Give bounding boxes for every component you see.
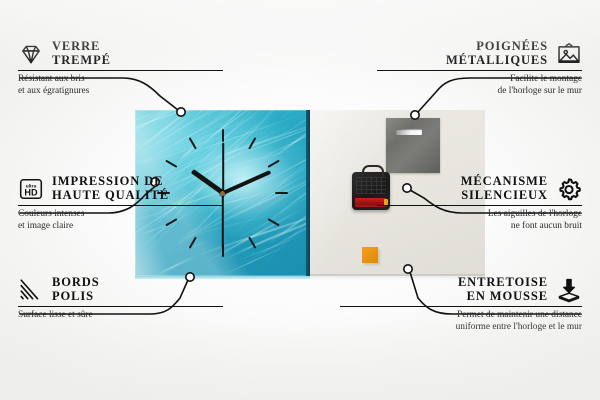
feature-header: MÉCANISME SILENCIEUX bbox=[377, 175, 582, 202]
feature-verre-trempe: VERRE TREMPÉ Résistant aux bris et aux é… bbox=[18, 40, 223, 97]
dial-marker bbox=[222, 129, 224, 142]
feature-rule bbox=[377, 70, 582, 71]
feature-title: BORDS POLIS bbox=[52, 276, 100, 303]
feature-poignees-metalliques: POIGNÉES MÉTALLIQUES Facilite le montage… bbox=[377, 40, 582, 97]
dial-marker bbox=[189, 237, 197, 249]
feature-header: VERRE TREMPÉ bbox=[18, 40, 223, 67]
feature-subtitle: Surface lisse et sûre bbox=[18, 310, 223, 322]
ultra-hd-large-text: HD bbox=[24, 187, 38, 197]
dial-marker bbox=[165, 160, 177, 168]
gear-icon bbox=[556, 176, 582, 202]
minute-hand bbox=[222, 170, 271, 195]
feature-header: BORDS POLIS bbox=[18, 276, 223, 303]
feature-rule bbox=[340, 306, 582, 307]
feature-header: ultra HD IMPRESSION DE HAUTE QUALITÉ bbox=[18, 175, 223, 202]
ultra-hd-icon: ultra HD bbox=[18, 176, 44, 202]
feature-rule bbox=[377, 205, 582, 206]
feature-mecanisme-silencieux: MÉCANISME SILENCIEUX Les aiguilles de l'… bbox=[377, 175, 582, 232]
feature-title: ENTRETOISE EN MOUSSE bbox=[458, 276, 548, 303]
feature-rule bbox=[18, 306, 223, 307]
infographic-canvas: VERRE TREMPÉ Résistant aux bris et aux é… bbox=[0, 0, 600, 400]
handle-slot bbox=[396, 129, 422, 135]
feature-subtitle: Facilite le montage de l'horloge sur le … bbox=[377, 74, 582, 97]
feature-title: IMPRESSION DE HAUTE QUALITÉ bbox=[52, 175, 169, 202]
feature-subtitle: Les aiguilles de l'horloge ne font aucun… bbox=[377, 209, 582, 232]
feature-title: POIGNÉES MÉTALLIQUES bbox=[446, 40, 548, 67]
foam-spacer bbox=[362, 247, 378, 263]
feature-rule bbox=[18, 70, 223, 71]
feature-title: VERRE TREMPÉ bbox=[52, 40, 111, 67]
feature-header: ENTRETOISE EN MOUSSE bbox=[340, 276, 582, 303]
foam-spacer-icon bbox=[556, 277, 582, 303]
feature-subtitle: Couleurs intenses et image claire bbox=[18, 209, 223, 232]
polished-edges-icon bbox=[18, 277, 44, 303]
feature-title: MÉCANISME SILENCIEUX bbox=[461, 175, 548, 202]
diamond-icon bbox=[18, 41, 44, 67]
dial-marker bbox=[248, 237, 256, 249]
feature-bords-polis: BORDS POLIS Surface lisse et sûre bbox=[18, 276, 223, 322]
feature-entretoise-en-mousse: ENTRETOISE EN MOUSSE Permet de maintenir… bbox=[340, 276, 582, 333]
dial-marker bbox=[268, 218, 280, 226]
feature-rule bbox=[18, 205, 223, 206]
dial-marker bbox=[268, 160, 280, 168]
feature-subtitle: Permet de maintenir une distance uniform… bbox=[340, 310, 582, 333]
feature-subtitle: Résistant aux bris et aux égratignures bbox=[18, 74, 223, 97]
dial-marker bbox=[275, 192, 288, 194]
picture-frame-hanger-icon bbox=[556, 41, 582, 67]
metal-handle bbox=[386, 118, 440, 173]
feature-header: POIGNÉES MÉTALLIQUES bbox=[377, 40, 582, 67]
feature-impression-haute-qualite: ultra HD IMPRESSION DE HAUTE QUALITÉ Cou… bbox=[18, 175, 223, 232]
dial-marker bbox=[248, 137, 256, 149]
dial-marker bbox=[189, 137, 197, 149]
